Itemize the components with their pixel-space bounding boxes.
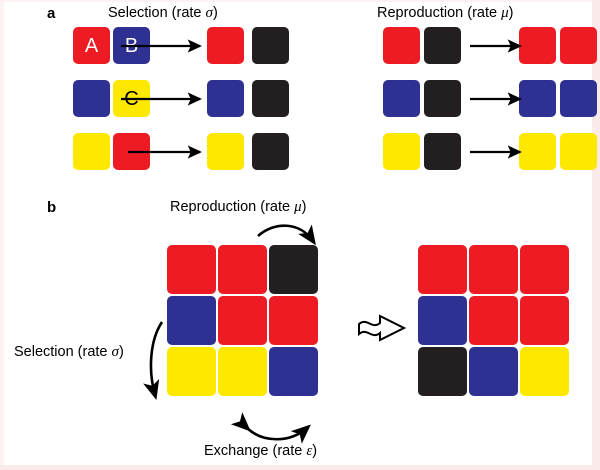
grid-after-cell-r1c1 (418, 245, 467, 294)
grid-after-cell-r2c2 (469, 296, 518, 345)
grid-after-cell-r2c1 (418, 296, 467, 345)
grid-before-cell-r3c2 (218, 347, 267, 396)
grid-before-cell-r2c2 (218, 296, 267, 345)
grid-before-cell-r3c3 (269, 347, 318, 396)
grid-after-cell-r1c2 (469, 245, 518, 294)
figure-canvas: a Selection (rate σ) Reproduction (rate … (0, 0, 600, 470)
grid-after-cell-r3c3 (520, 347, 569, 396)
grid-after-cell-r3c2 (469, 347, 518, 396)
grid-before-cell-r2c1 (167, 296, 216, 345)
grid-after-cell-r3c1 (418, 347, 467, 396)
grid-before-cell-r2c3 (269, 296, 318, 345)
grid-before-cell-r1c3 (269, 245, 318, 294)
panel-b-diagram (0, 0, 600, 470)
grid-before-cell-r1c1 (167, 245, 216, 294)
grid-after-cell-r2c3 (520, 296, 569, 345)
grid-after-cell-r1c3 (520, 245, 569, 294)
grid-before-cell-r3c1 (167, 347, 216, 396)
grid-before-cell-r1c2 (218, 245, 267, 294)
